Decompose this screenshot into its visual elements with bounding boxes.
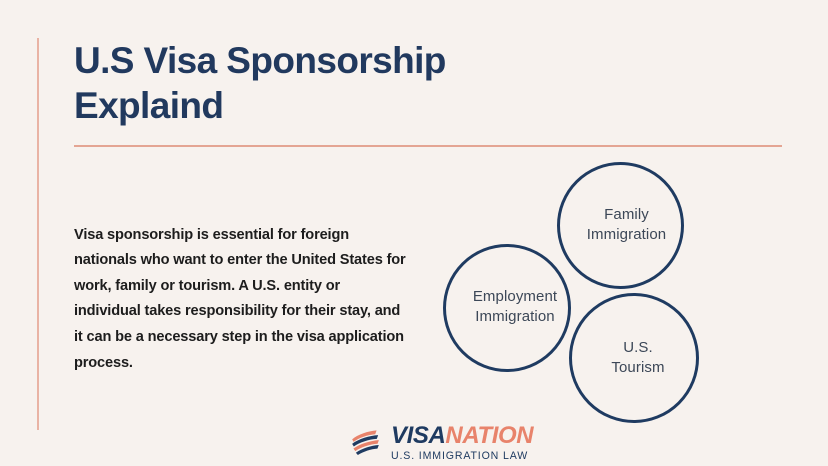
circle-label-family-immigration: Family Immigration — [587, 205, 666, 245]
logo-tagline: U.S. IMMIGRATION LAW — [391, 451, 533, 462]
page-title: U.S Visa Sponsorship Explaind — [74, 38, 544, 128]
title-divider-rule — [74, 145, 782, 147]
logo-wordmark: VISANATION — [391, 424, 533, 448]
circle-employment-immigration[interactable]: Employment Immigration — [443, 244, 571, 372]
circle-family-immigration[interactable]: Family Immigration — [557, 162, 684, 289]
logo-word-visa: VISA — [391, 422, 445, 449]
brand-logo[interactable]: VISANATION U.S. IMMIGRATION LAW — [350, 424, 533, 462]
circle-us-tourism[interactable]: U.S. Tourism — [569, 293, 699, 423]
left-vertical-rule — [37, 38, 39, 430]
body-paragraph: Visa sponsorship is essential for foreig… — [74, 223, 406, 377]
circle-label-employment-immigration: Employment Immigration — [473, 287, 557, 327]
page-title-line-2: Explaind — [74, 83, 544, 128]
logo-text-block: VISANATION U.S. IMMIGRATION LAW — [391, 424, 533, 462]
globe-swoosh-icon — [350, 428, 384, 458]
logo-word-nation: NATION — [445, 422, 533, 449]
circle-label-us-tourism: U.S. Tourism — [611, 338, 664, 378]
slide-canvas: U.S Visa Sponsorship Explaind Visa spons… — [0, 0, 828, 466]
page-title-line-1: U.S Visa Sponsorship — [74, 38, 544, 83]
